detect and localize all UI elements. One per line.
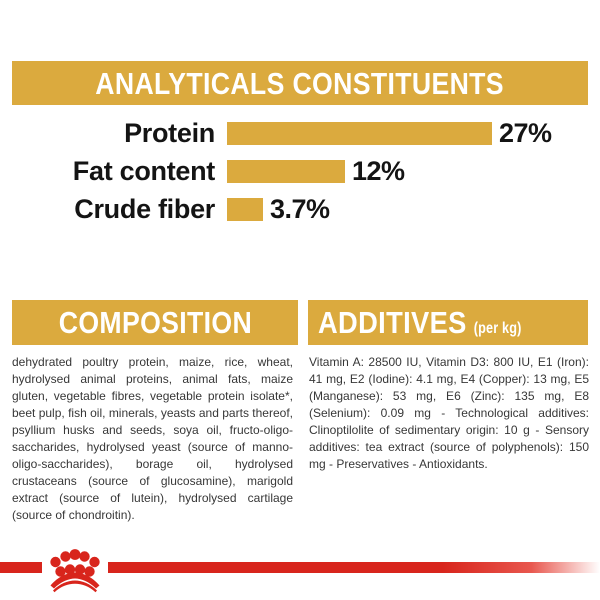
chart-bar-fat-content — [227, 160, 345, 183]
chart-row-crude-fiber: Crude fiber 3.7% — [0, 194, 600, 224]
composition-title: COMPOSITION — [58, 307, 251, 338]
composition-body-text: dehydrated poultry protein, maize, rice,… — [12, 354, 293, 524]
chart-bar-wrap-fat-content: 12% — [227, 158, 405, 185]
additives-header-row: ADDITIVES (per kg) — [318, 307, 527, 338]
chart-value-protein: 27% — [499, 120, 552, 147]
chart-value-fat-content: 12% — [352, 158, 405, 185]
footer-rule-left — [0, 562, 42, 573]
additives-header: ADDITIVES (per kg) — [308, 300, 588, 345]
chart-row-fat-content: Fat content 12% — [0, 156, 600, 186]
additives-title: ADDITIVES — [318, 307, 467, 338]
chart-row-protein: Protein 27% — [0, 118, 600, 148]
analyticals-bar-chart: Protein 27% Fat content 12% Crude fiber … — [0, 118, 600, 233]
additives-subtitle-per-kg: (per kg) — [474, 320, 522, 338]
royal-canin-crown-icon — [44, 545, 106, 593]
composition-header: COMPOSITION — [12, 300, 298, 345]
footer-brand-bar — [0, 545, 600, 600]
analyticals-constituents-title: ANALYTICALS CONSTITUENTS — [96, 68, 505, 99]
additives-body-text: Vitamin A: 28500 IU, Vitamin D3: 800 IU,… — [309, 354, 589, 473]
chart-label-protein: Protein — [0, 120, 215, 147]
chart-bar-wrap-protein: 27% — [227, 120, 552, 147]
chart-label-crude-fiber: Crude fiber — [0, 196, 215, 223]
chart-bar-protein — [227, 122, 492, 145]
chart-bar-wrap-crude-fiber: 3.7% — [227, 196, 330, 223]
chart-value-crude-fiber: 3.7% — [270, 196, 330, 223]
chart-label-fat-content: Fat content — [0, 158, 215, 185]
analyticals-constituents-header: ANALYTICALS CONSTITUENTS — [12, 61, 588, 105]
footer-rule-right — [108, 562, 600, 573]
chart-bar-crude-fiber — [227, 198, 263, 221]
